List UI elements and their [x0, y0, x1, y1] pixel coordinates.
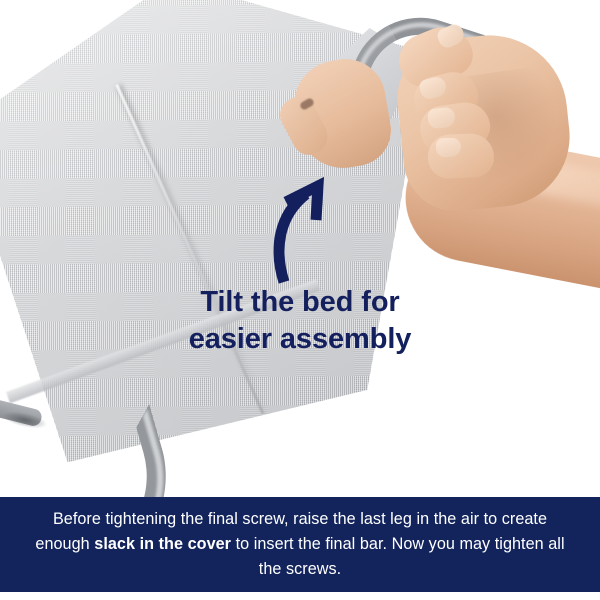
- instruction-banner-segment-1: slack in the cover: [94, 535, 231, 553]
- instruction-banner-segment-2: to insert the final bar. Now you may tig…: [231, 535, 565, 578]
- callout-headline: Tilt the bed for easier assembly: [0, 284, 600, 358]
- curved-up-arrow-icon: [272, 172, 334, 284]
- callout-headline-line2: easier assembly: [0, 321, 600, 358]
- banner-bottom-rule: [0, 592, 600, 600]
- cover-leg-joint-shadow: [1, 408, 49, 431]
- instruction-banner-text: Before tightening the final screw, raise…: [26, 507, 574, 582]
- instruction-image: Tilt the bed for easier assembly Before …: [0, 0, 600, 600]
- callout-headline-line1: Tilt the bed for: [0, 284, 600, 321]
- product-photo: [0, 0, 600, 497]
- instruction-banner: Before tightening the final screw, raise…: [0, 497, 600, 592]
- fingernail-ring: [436, 138, 462, 158]
